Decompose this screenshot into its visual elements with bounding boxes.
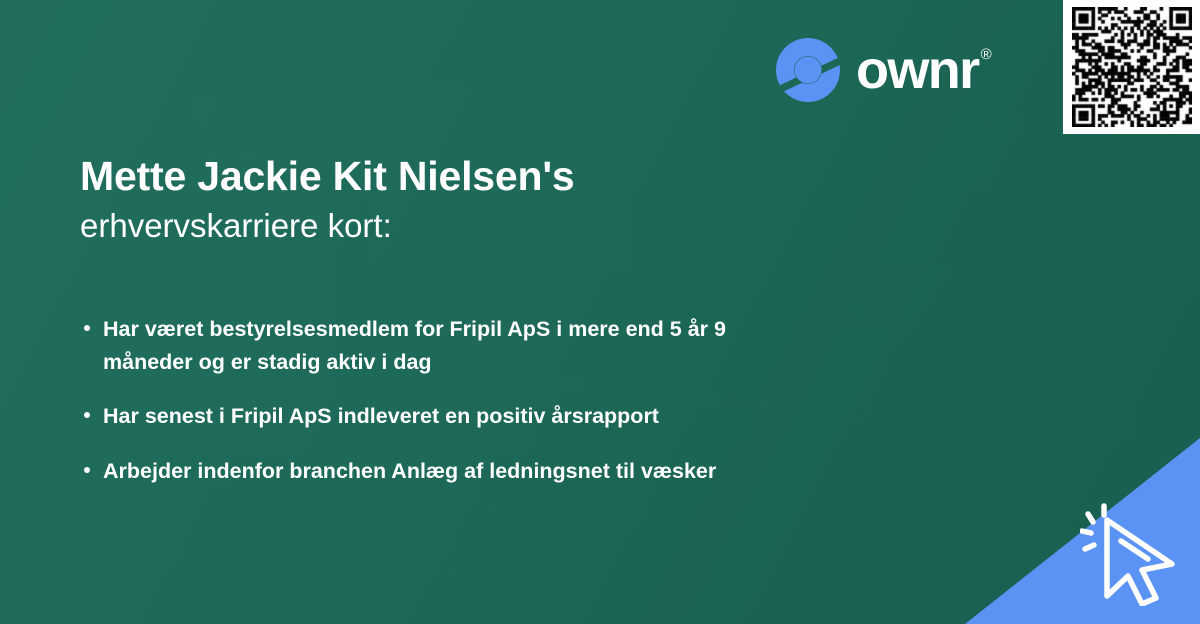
- click-cursor-icon: [1080, 502, 1188, 606]
- bullet-icon: [84, 325, 90, 331]
- qr-code[interactable]: [1063, 0, 1200, 134]
- list-item-label: Har været bestyrelsesmedlem for Fripil A…: [103, 313, 803, 378]
- list-item: Har senest i Fripil ApS indleveret en po…: [82, 400, 882, 433]
- page-subtitle: erhvervskarriere kort:: [80, 206, 820, 246]
- business-career-card: ownr ® Mette Jackie Kit Nielsen's erhver…: [0, 0, 1200, 624]
- list-item-label: Arbejder indenfor branchen Anlæg af ledn…: [103, 455, 882, 488]
- career-facts-list: Har været bestyrelsesmedlem for Fripil A…: [82, 313, 882, 488]
- heading-block: Mette Jackie Kit Nielsen's erhvervskarri…: [80, 152, 820, 246]
- qr-code-image: [1072, 7, 1192, 127]
- list-item: Arbejder indenfor branchen Anlæg af ledn…: [82, 455, 882, 488]
- ownr-circle-logo: [774, 36, 842, 104]
- list-item-label: Har senest i Fripil ApS indleveret en po…: [103, 400, 882, 433]
- ownr-logo[interactable]: ownr ®: [774, 36, 992, 104]
- bullet-icon: [84, 467, 90, 473]
- registered-trademark-icon: ®: [981, 47, 992, 62]
- bullet-icon: [84, 412, 90, 418]
- page-title: Mette Jackie Kit Nielsen's: [80, 152, 820, 200]
- ownr-wordmark: ownr ®: [856, 43, 992, 97]
- list-item: Har været bestyrelsesmedlem for Fripil A…: [82, 313, 882, 378]
- wordmark-text: ownr: [856, 43, 979, 97]
